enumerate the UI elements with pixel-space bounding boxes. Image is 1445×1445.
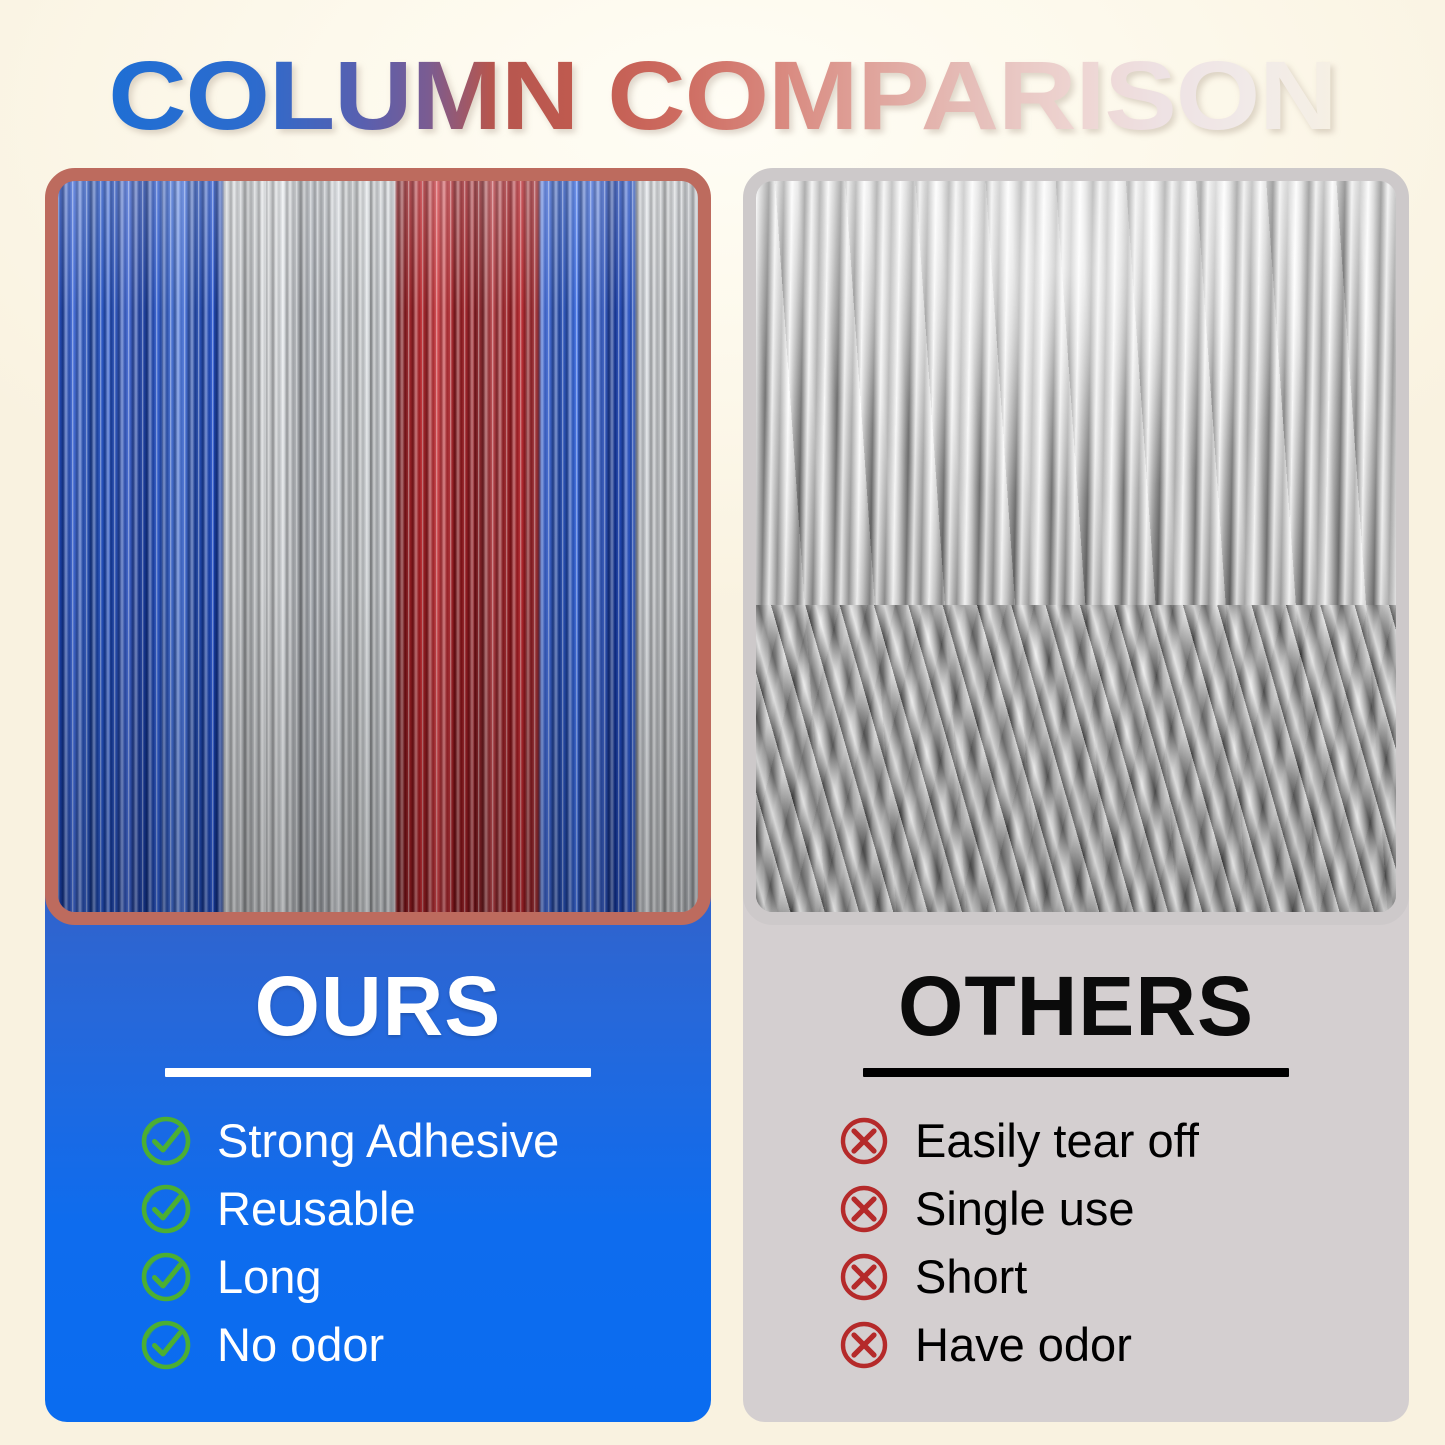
cross-circle-icon xyxy=(837,1318,891,1372)
cross-circle-icon xyxy=(837,1182,891,1236)
list-item: Strong Adhesive xyxy=(139,1107,693,1175)
list-item: Easily tear off xyxy=(837,1107,1391,1175)
list-item-label: Single use xyxy=(915,1182,1135,1236)
others-feature-list: Easily tear off Single use Short xyxy=(761,1107,1391,1379)
list-item-label: Have odor xyxy=(915,1318,1132,1372)
list-item-label: Long xyxy=(217,1250,322,1304)
ours-photo-image xyxy=(58,181,698,912)
others-photo-image xyxy=(756,181,1396,912)
page-title-text: COLUMN COMPARISON xyxy=(108,44,1336,148)
comparison-column-ours: OURS Strong Adhesive Reusable xyxy=(45,168,711,1422)
list-item-label: Easily tear off xyxy=(915,1114,1199,1168)
list-item: Long xyxy=(139,1243,693,1311)
check-circle-icon xyxy=(139,1182,193,1236)
list-item: Short xyxy=(837,1243,1391,1311)
list-item: No odor xyxy=(139,1311,693,1379)
list-item: Have odor xyxy=(837,1311,1391,1379)
list-item-label: Short xyxy=(915,1250,1027,1304)
check-circle-icon xyxy=(139,1250,193,1304)
page-title: COLUMN COMPARISON xyxy=(0,44,1445,148)
cross-circle-icon xyxy=(837,1114,891,1168)
list-item-label: No odor xyxy=(217,1318,384,1372)
list-item-label: Reusable xyxy=(217,1182,416,1236)
cross-circle-icon xyxy=(837,1250,891,1304)
others-panel-body: OTHERS Easily tear off Single use xyxy=(743,936,1409,1422)
comparison-column-others: OTHERS Easily tear off Single use xyxy=(743,168,1409,1422)
others-divider xyxy=(863,1068,1289,1077)
others-product-photo xyxy=(743,168,1409,925)
list-item: Single use xyxy=(837,1175,1391,1243)
others-heading: OTHERS xyxy=(761,958,1391,1054)
check-circle-icon xyxy=(139,1114,193,1168)
check-circle-icon xyxy=(139,1318,193,1372)
ours-divider xyxy=(165,1068,591,1077)
list-item-label: Strong Adhesive xyxy=(217,1114,559,1168)
colored-foil-fringe-graphic xyxy=(58,181,698,912)
silver-foil-fringe-graphic xyxy=(756,181,1396,912)
ours-feature-list: Strong Adhesive Reusable Long xyxy=(63,1107,693,1379)
ours-panel-body: OURS Strong Adhesive Reusable xyxy=(45,936,711,1422)
ours-heading: OURS xyxy=(63,958,693,1054)
list-item: Reusable xyxy=(139,1175,693,1243)
ours-product-photo xyxy=(45,168,711,925)
